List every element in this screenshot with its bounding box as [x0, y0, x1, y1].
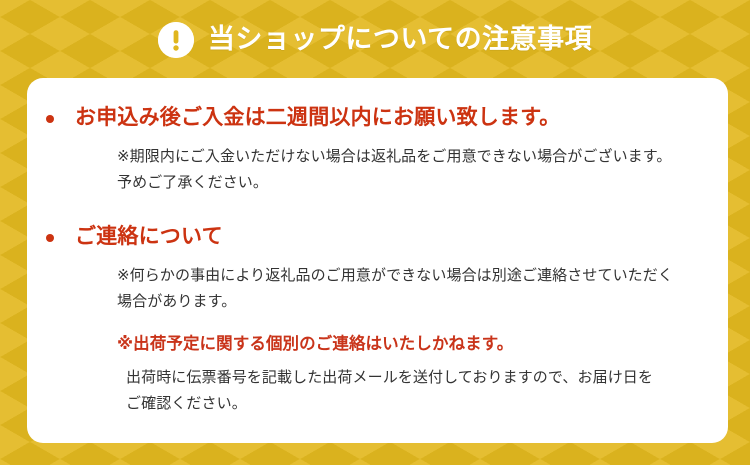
note-line: 予めご了承ください。: [117, 170, 706, 196]
page-title: 当ショップについての注意事項: [208, 26, 592, 53]
notice-heading-row: ご連絡について: [46, 223, 706, 251]
bullet-dot-icon: [46, 115, 54, 123]
notice-note-block: ※期限内にご入金いただけない場合は返礼品をご用意できない場合がございます。 予め…: [117, 144, 706, 196]
note-line: ご確認ください。: [117, 391, 706, 417]
notice-note-block: ※何らかの事由により返礼品のご用意ができない場合は別途ご連絡させていただく 場合…: [117, 263, 706, 417]
note-line-emphasis: ※出荷予定に関する個別のご連絡はいたしかねます。: [117, 330, 706, 358]
notice-item-payment: お申込み後ご入金は二週間以内にお願い致します。 ※期限内にご入金いただけない場合…: [46, 104, 706, 196]
banner-header: 当ショップについての注意事項: [0, 0, 750, 78]
shop-notice-banner: 当ショップについての注意事項 お申込み後ご入金は二週間以内にお願い致します。 ※…: [0, 0, 750, 465]
note-line: 場合があります。: [117, 289, 706, 315]
notice-heading-row: お申込み後ご入金は二週間以内にお願い致します。: [46, 104, 706, 132]
notice-heading: お申込み後ご入金は二週間以内にお願い致します。: [75, 104, 561, 132]
exclamation-circle-icon: [158, 22, 194, 58]
note-line: ※期限内にご入金いただけない場合は返礼品をご用意できない場合がございます。: [117, 144, 706, 170]
note-line: ※何らかの事由により返礼品のご用意ができない場合は別途ご連絡させていただく: [117, 263, 706, 289]
note-line: 出荷時に伝票番号を記載した出荷メールを送付しておりますので、お届け日を: [117, 365, 706, 391]
notice-heading: ご連絡について: [75, 223, 223, 251]
bullet-dot-icon: [46, 234, 54, 242]
notice-item-contact: ご連絡について ※何らかの事由により返礼品のご用意ができない場合は別途ご連絡させ…: [46, 223, 706, 417]
notice-card: お申込み後ご入金は二週間以内にお願い致します。 ※期限内にご入金いただけない場合…: [27, 78, 728, 443]
